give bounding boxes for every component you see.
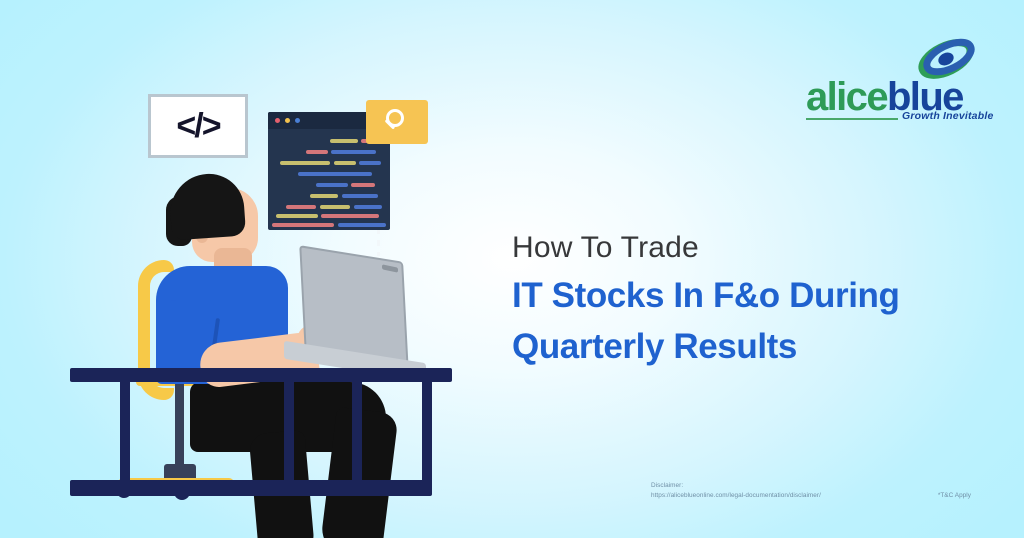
hero-illustration: </> xyxy=(70,70,470,520)
page-title-line-2: Quarterly Results xyxy=(512,321,982,372)
logo-tagline: Growth Inevitable xyxy=(902,110,982,122)
banner: aliceblue Growth Inevitable How To Trade… xyxy=(0,0,1024,538)
code-line xyxy=(354,205,382,209)
code-editor-body xyxy=(268,129,390,230)
page-title: IT Stocks In F&o During Quarterly Result… xyxy=(512,270,982,372)
terms-note: *T&C Apply xyxy=(938,491,971,501)
code-brackets-card: </> xyxy=(148,94,248,158)
code-line xyxy=(272,223,334,227)
code-line xyxy=(331,150,376,154)
desk-leg xyxy=(120,380,130,488)
window-maximize-dot-icon xyxy=(295,118,300,123)
chair-pole xyxy=(175,384,184,470)
code-line xyxy=(306,150,328,154)
logo-text-alice: alice xyxy=(806,75,887,119)
disclaimer-url[interactable]: https://aliceblueonline.com/legal-docume… xyxy=(651,491,971,501)
logo-wordmark: aliceblue xyxy=(806,80,976,114)
code-line xyxy=(310,194,338,198)
code-line xyxy=(359,161,381,165)
code-line xyxy=(320,205,350,209)
headline-kicker: How To Trade xyxy=(512,228,982,268)
window-minimize-dot-icon xyxy=(285,118,290,123)
code-line xyxy=(321,214,379,218)
code-line xyxy=(351,183,375,187)
code-line xyxy=(338,223,386,227)
desk-leg xyxy=(284,380,294,488)
person-hair xyxy=(168,171,246,240)
desk-leg xyxy=(422,380,432,488)
desk-bottom-rail xyxy=(70,480,432,496)
page-title-line-1: IT Stocks In F&o During xyxy=(512,270,982,321)
code-line xyxy=(330,139,358,143)
code-line xyxy=(286,205,316,209)
code-line xyxy=(280,161,330,165)
code-brackets-icon: </> xyxy=(176,107,219,146)
search-card xyxy=(366,100,428,144)
window-close-dot-icon xyxy=(275,118,280,123)
code-line xyxy=(316,183,348,187)
code-line xyxy=(334,161,356,165)
code-line xyxy=(342,194,378,198)
logo-divider xyxy=(806,118,898,120)
disclaimer: Disclaimer: https://aliceblueonline.com/… xyxy=(651,481,971,505)
code-line xyxy=(298,172,372,176)
aliceblue-logo[interactable]: aliceblue Growth Inevitable xyxy=(806,36,976,126)
disclaimer-label: Disclaimer: xyxy=(651,481,971,491)
headline-block: How To Trade IT Stocks In F&o During Qua… xyxy=(512,228,982,372)
code-line xyxy=(276,214,318,218)
desk-leg xyxy=(352,380,362,488)
